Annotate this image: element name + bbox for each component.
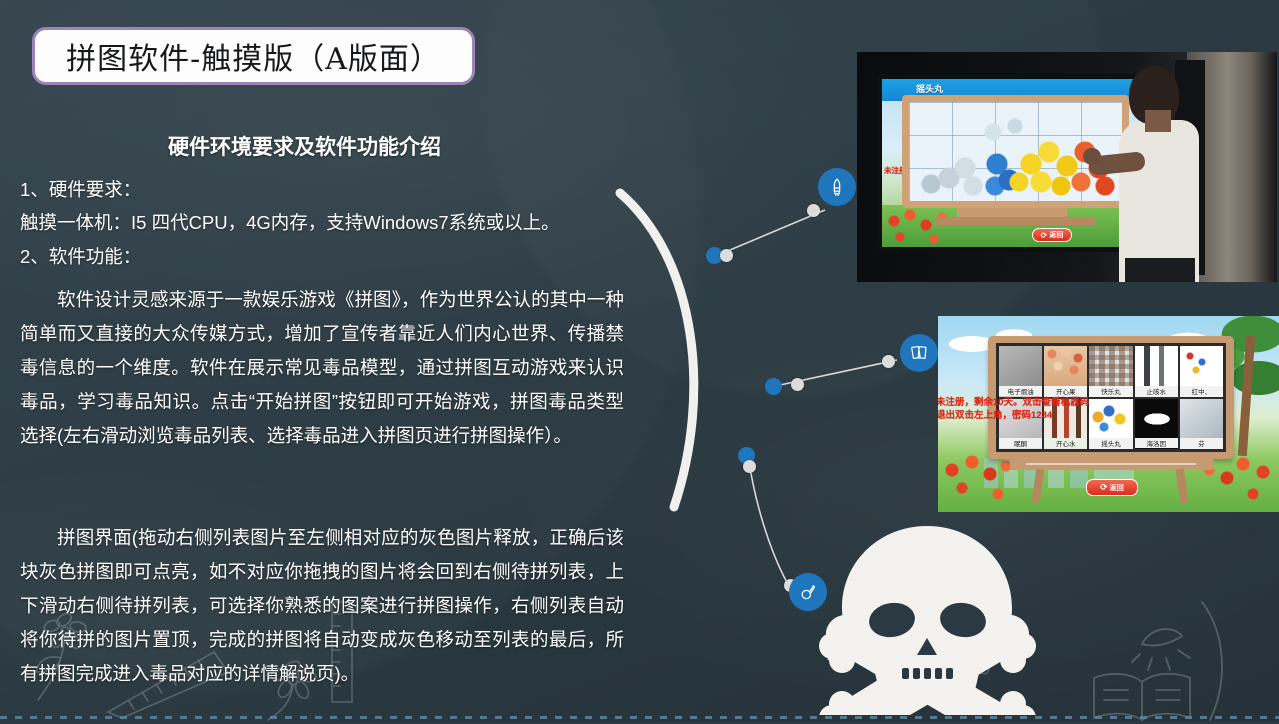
- connector-node-grey-2: [791, 378, 804, 391]
- person-hand: [1083, 148, 1101, 165]
- easel-tray-line: [1026, 463, 1196, 465]
- game-back-label: 返回: [1049, 230, 1063, 240]
- software-paragraph-1: 软件设计灵感来源于一款娱乐游戏《拼图》，作为世界公认的其中一种简单而又直接的大众…: [20, 283, 624, 453]
- section-subheading: 硬件环境要求及软件功能介绍: [168, 131, 441, 161]
- drug-label: 芬: [1180, 438, 1223, 448]
- syringe-icon: [827, 177, 847, 197]
- bottom-dashed-rail: [0, 716, 1279, 719]
- badge-syringe[interactable]: [818, 168, 856, 206]
- connector-node-grey-3: [743, 460, 756, 473]
- book-icon: [909, 343, 929, 363]
- drug-label: 开心果: [1044, 386, 1087, 396]
- drug-cell[interactable]: 海洛因: [1135, 399, 1178, 450]
- drug-label: 眠酮: [999, 438, 1042, 448]
- game-back-button[interactable]: ⟳ 返回: [1032, 228, 1072, 242]
- drug-label: 止咳水: [1135, 386, 1178, 396]
- refresh-icon: ⟳: [1041, 231, 1048, 240]
- drug-label: 快乐丸: [1089, 386, 1132, 396]
- watermark-line-1: 未注册，剩余10天。双击查看机器码: [938, 398, 1089, 409]
- connector-node-grey-1b: [807, 204, 820, 217]
- drug-label: 海洛因: [1135, 438, 1178, 448]
- drug-thumb: [1180, 346, 1223, 388]
- drug-thumb: [1089, 346, 1132, 388]
- refresh-icon: ⟳: [1100, 482, 1108, 493]
- drug-cell[interactable]: 红中、: [1180, 346, 1223, 397]
- connector-node-grey-1: [720, 249, 733, 262]
- photo-drug-list-screen: 电子烟油 开心果 快乐丸 止咳水 红中、 眠酮 开心水 摇头丸: [938, 316, 1279, 512]
- drug-thumb: [1180, 399, 1223, 441]
- drug-label: 开心水: [1044, 438, 1087, 448]
- drug-list-back-label: 返回: [1110, 483, 1124, 493]
- drug-cell[interactable]: 快乐丸: [1089, 346, 1132, 397]
- skull-and-crossbones-icon: [810, 520, 1045, 715]
- drug-cell[interactable]: 开心果: [1044, 346, 1087, 397]
- person-neck: [1145, 110, 1171, 132]
- drug-thumb: [1135, 346, 1178, 388]
- drug-label: 电子烟油: [999, 386, 1042, 396]
- drug-label: 摇头丸: [1089, 438, 1132, 448]
- photo-touchscreen-in-use: 摇头丸 未注册 ⟳ 返回 触摸一体机拼图游戏操作演示: [857, 52, 1277, 282]
- slide-title: 拼图软件-触摸版（A版面）: [66, 34, 441, 78]
- drug-cell[interactable]: 芬: [1180, 399, 1223, 450]
- game-easel-tray: [935, 217, 1095, 225]
- connector-node-grey-2b: [882, 355, 895, 368]
- drug-cell[interactable]: 摇头丸: [1089, 399, 1132, 450]
- badge-book[interactable]: [900, 334, 938, 372]
- drug-thumb: [1089, 399, 1132, 441]
- hardware-requirement-label: 1、硬件要求：: [20, 176, 141, 202]
- hardware-spec-text: 触摸一体机：I5 四代CPU，4G内存，支持Windows7系统或以上。: [20, 209, 560, 235]
- game-flowers-left: [882, 207, 960, 247]
- software-paragraph-2: 拼图界面(拖动右侧列表图片至左侧相对应的灰色图片释放，正确后该块灰色拼图即可点亮…: [20, 521, 624, 691]
- software-function-label: 2、软件功能：: [20, 243, 141, 269]
- connector-node-blue-2: [765, 378, 782, 395]
- drug-cell[interactable]: 电子烟油: [999, 346, 1042, 397]
- drug-label: 红中、: [1180, 386, 1223, 396]
- game-screen-title: 摇头丸: [916, 82, 943, 95]
- drug-cell[interactable]: 止咳水: [1135, 346, 1178, 397]
- drug-thumb: [1044, 346, 1087, 388]
- drug-list-back-button[interactable]: ⟳ 返回: [1086, 479, 1138, 496]
- game-easel-leg: [957, 208, 1067, 217]
- slide-title-box: 拼图软件-触摸版（A版面）: [32, 27, 475, 85]
- watermark-line-2: 退出双击左上角，密码1234: [938, 411, 1052, 422]
- drug-thumb: [999, 346, 1042, 388]
- drug-thumb: [1135, 399, 1178, 441]
- person-legs: [1125, 258, 1195, 282]
